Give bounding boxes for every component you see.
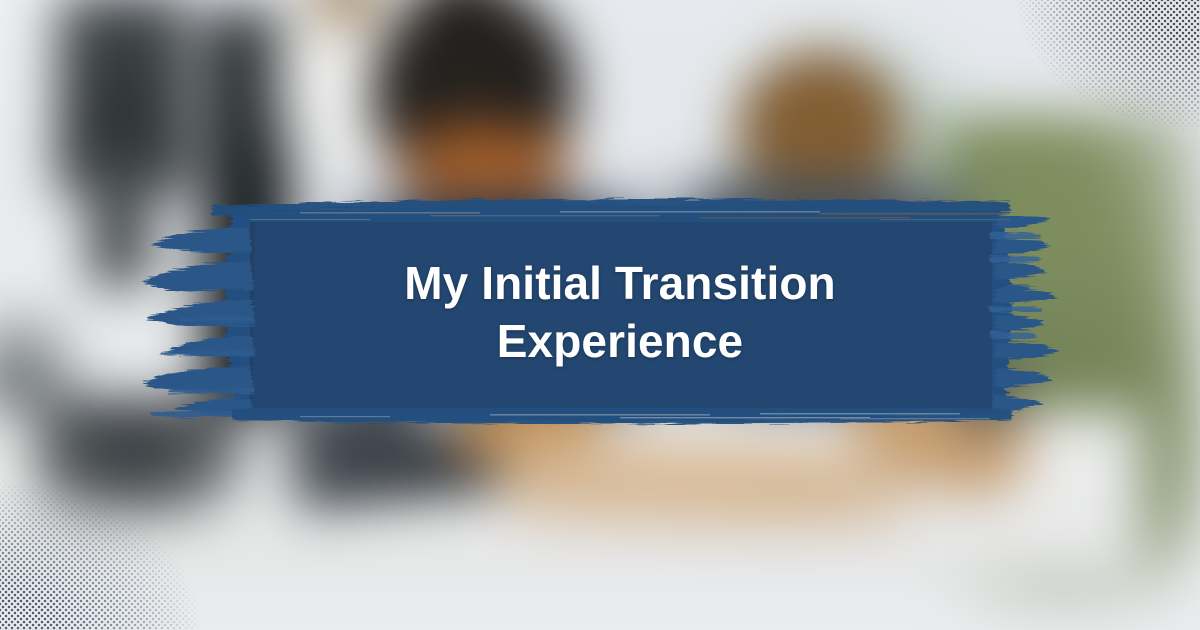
page-title: My Initial Transition Experience [340, 255, 900, 369]
background-person-back-hair [312, 0, 382, 30]
background-monitor-stem [90, 155, 150, 285]
banner-title-block: My Initial Transition Experience [230, 205, 1010, 420]
featured-image-card: My Initial Transition Experience [0, 0, 1200, 630]
background-chair-base [35, 395, 250, 520]
background-arm-center [499, 438, 922, 533]
